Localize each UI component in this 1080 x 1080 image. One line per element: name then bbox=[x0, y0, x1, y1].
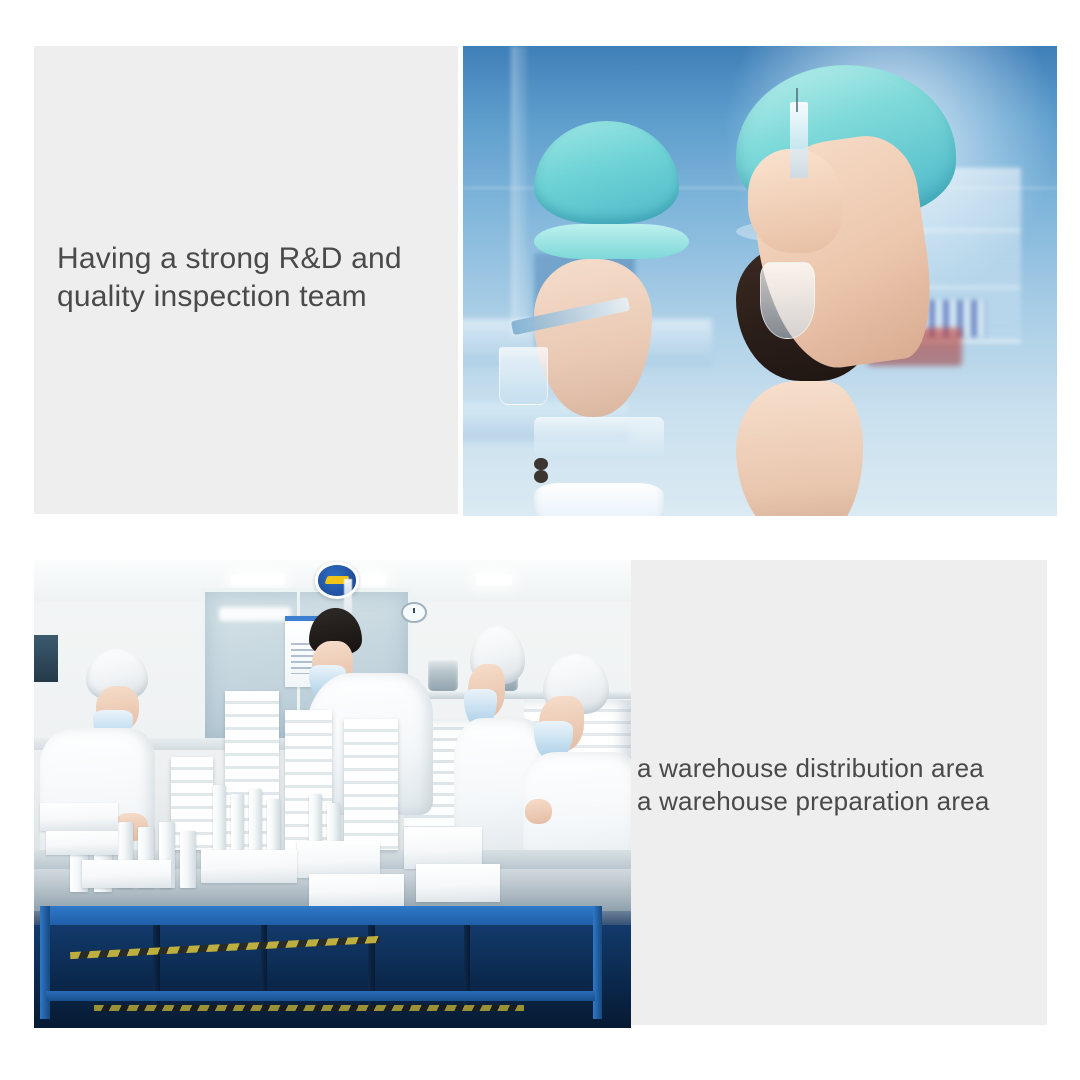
white-carton bbox=[309, 874, 405, 907]
warehouse-caption-text: a warehouse distribution area a warehous… bbox=[637, 752, 1042, 818]
white-carton bbox=[40, 803, 118, 831]
white-carton bbox=[201, 850, 297, 883]
face-mask bbox=[534, 483, 664, 516]
white-carton bbox=[46, 831, 118, 854]
hair-cap-band bbox=[534, 224, 689, 260]
sample-vial bbox=[790, 102, 808, 177]
white-bottle bbox=[231, 794, 244, 850]
white-carton bbox=[416, 864, 500, 901]
table-lower-rail bbox=[46, 991, 595, 1001]
warehouse-packing-photo bbox=[34, 560, 631, 1028]
blue-circular-sign bbox=[315, 562, 360, 598]
safety-goggles bbox=[534, 417, 664, 457]
packing-scene bbox=[34, 560, 631, 1028]
white-bottle bbox=[249, 789, 262, 850]
page-root: Having a strong R&D and quality inspecti… bbox=[0, 0, 1080, 1080]
table-frame bbox=[40, 906, 601, 925]
table-leg bbox=[593, 906, 603, 1018]
face bbox=[736, 381, 862, 516]
white-bottle bbox=[213, 785, 226, 851]
white-carton bbox=[404, 827, 482, 869]
white-bottle bbox=[180, 831, 196, 887]
table-leg bbox=[40, 906, 50, 1018]
hazard-tape bbox=[94, 1005, 524, 1012]
window-light-reflection bbox=[219, 607, 291, 621]
face bbox=[534, 259, 651, 417]
glass-flask bbox=[760, 262, 815, 339]
hair-cap bbox=[534, 121, 679, 224]
lab-glass-column bbox=[511, 46, 529, 337]
ceiling-light bbox=[231, 574, 285, 585]
glass-beaker bbox=[499, 347, 549, 405]
lab-scene bbox=[463, 46, 1057, 516]
carton-stack bbox=[344, 719, 398, 850]
eye-left bbox=[534, 458, 548, 471]
rd-caption-text: Having a strong R&D and quality inspecti… bbox=[57, 240, 457, 316]
vial-needle bbox=[796, 88, 798, 112]
white-carton bbox=[82, 860, 172, 888]
rd-lab-photo bbox=[463, 46, 1057, 516]
hand bbox=[525, 799, 552, 825]
ceiling-light bbox=[476, 574, 512, 585]
white-bottle bbox=[267, 799, 280, 850]
eye-right bbox=[534, 470, 548, 483]
